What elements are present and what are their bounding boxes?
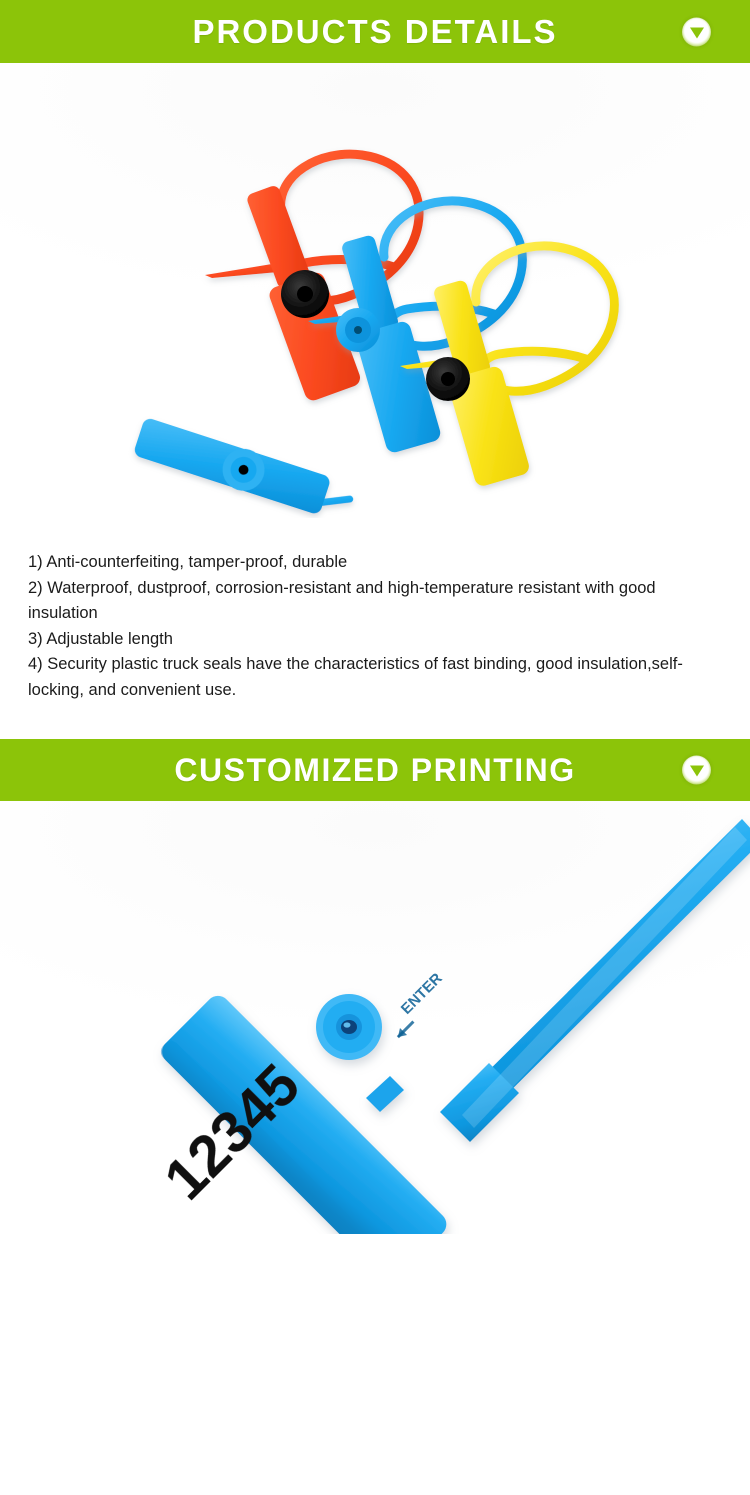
- arrow-left-icon: [394, 1018, 417, 1041]
- product-photo-seals: [0, 63, 750, 518]
- customized-printing-title: CUSTOMIZED PRINTING: [174, 752, 575, 789]
- products-details-title: PRODUCTS DETAILS: [192, 13, 557, 51]
- triangle-down-icon[interactable]: [682, 756, 711, 785]
- printing-photo: 12345 ENTER: [0, 801, 750, 1234]
- feature-line-1: 1) Anti-counterfeiting, tamper-proof, du…: [28, 550, 728, 576]
- triangle-down-glyph: [690, 766, 704, 777]
- features-list: 1) Anti-counterfeiting, tamper-proof, du…: [0, 518, 750, 703]
- seal-blue-closeup: [132, 416, 354, 518]
- printed-seal-body: [157, 819, 750, 1234]
- printed-enter-label: ENTER: [398, 970, 446, 1018]
- triangle-down-icon[interactable]: [682, 17, 711, 46]
- customized-printing-banner: CUSTOMIZED PRINTING: [0, 739, 750, 801]
- feature-line-3: 3) Adjustable length: [28, 627, 728, 653]
- seals-illustration: [0, 63, 750, 518]
- seal-yellow: [400, 246, 614, 488]
- feature-line-4: 4) Security plastic truck seals have the…: [28, 652, 728, 703]
- printed-seal-illustration: 12345 ENTER: [0, 801, 750, 1234]
- feature-line-2: 2) Waterproof, dustproof, corrosion-resi…: [28, 576, 728, 627]
- spacer: [0, 703, 750, 739]
- products-details-banner: PRODUCTS DETAILS: [0, 0, 750, 63]
- triangle-down-glyph: [690, 27, 704, 38]
